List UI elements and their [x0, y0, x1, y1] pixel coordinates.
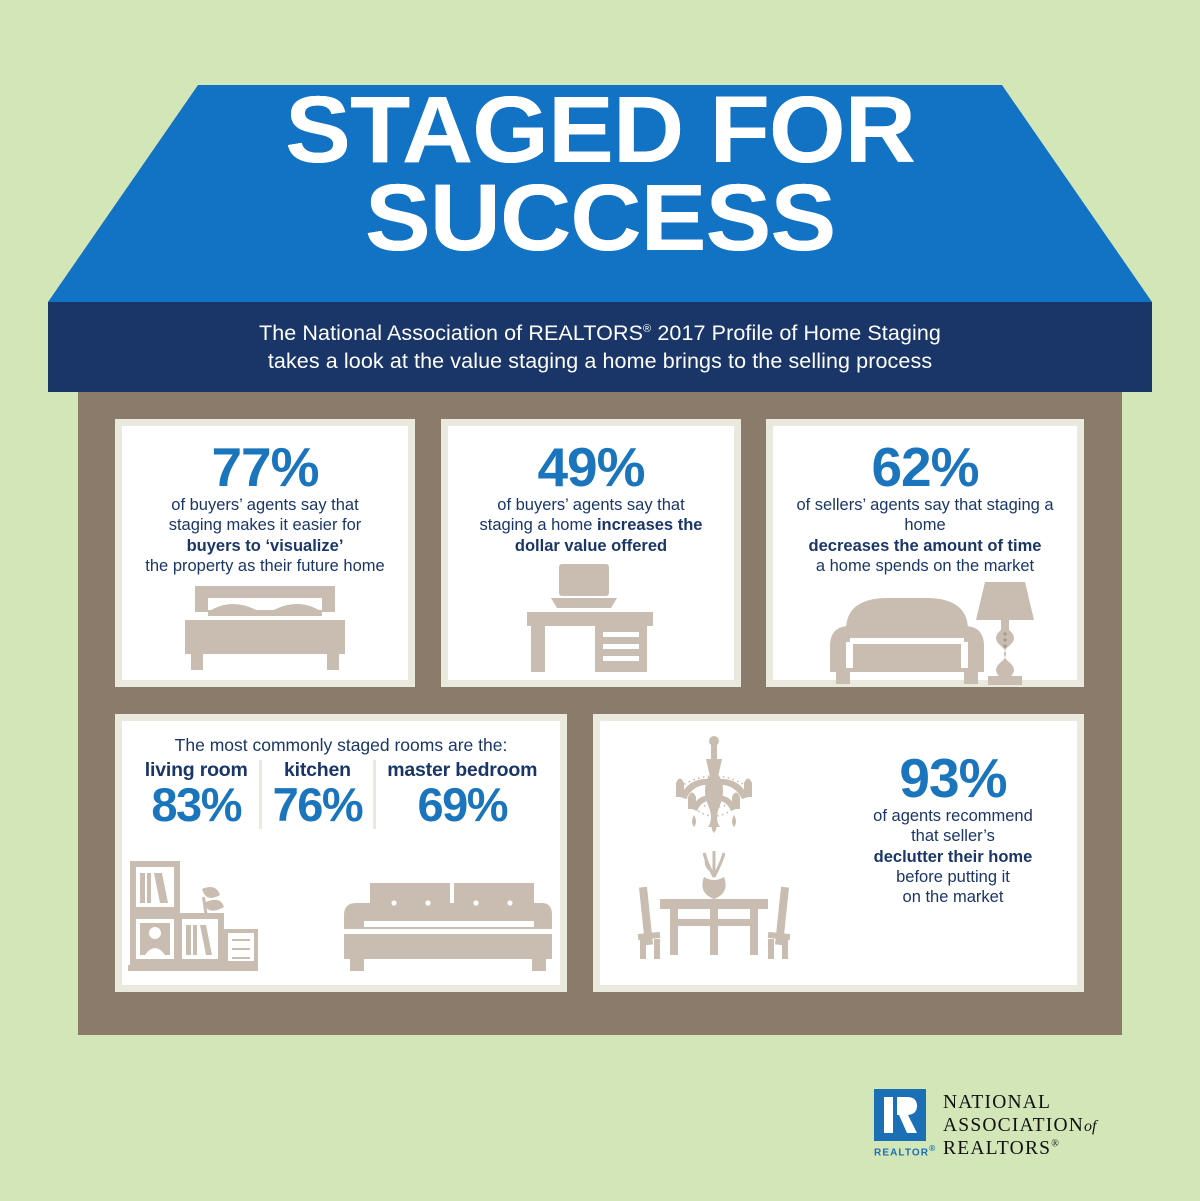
- nar-wordmark-line-2-row: ASSOCIATIONof: [943, 1114, 1097, 1137]
- time-percent: 62%: [773, 440, 1077, 495]
- realtor-wordmark-registered-icon: ®: [929, 1143, 936, 1153]
- stat-card-staged-rooms-inner: The most commonly staged rooms are the: …: [122, 721, 560, 985]
- declutter-text: 93% of agents recommend that seller’s de…: [829, 721, 1077, 985]
- rooms-row: living room 83% kitchen 76% master bedro…: [122, 756, 560, 829]
- declutter-line-4: before putting it: [896, 868, 1010, 886]
- subtitle-line-1-post: 2017 Profile of Home Staging: [651, 321, 941, 345]
- time-blurb: of sellers’ agents say that staging a ho…: [773, 495, 1077, 576]
- room-stat-kitchen: kitchen 76%: [259, 760, 374, 829]
- rooms-icons-row: [122, 829, 560, 985]
- bed-icon-wrap: [122, 576, 408, 680]
- room-percent-living-room: 83%: [145, 781, 248, 829]
- realtor-r-stem-icon: [884, 1097, 893, 1133]
- realtor-r-square-icon: [874, 1089, 926, 1141]
- room-stat-master-bedroom: master bedroom 69%: [373, 760, 548, 829]
- rooms-heading: The most commonly staged rooms are the:: [122, 721, 560, 756]
- stat-card-dollar-value-inner: 49% of buyers’ agents say that staging a…: [448, 426, 734, 680]
- time-text-block: 62% of sellers’ agents say that staging …: [773, 426, 1077, 576]
- stat-card-staged-rooms: The most commonly staged rooms are the: …: [115, 714, 567, 992]
- page-title: STAGED FOR SUCCESS: [0, 86, 1200, 263]
- sofa-icon: [342, 881, 554, 979]
- stat-card-declutter-inner: 93% of agents recommend that seller’s de…: [600, 721, 1077, 985]
- visualize-line-3-bold: buyers to ‘visualize’: [187, 537, 344, 555]
- realtor-wordmark: REALTOR®: [874, 1143, 932, 1158]
- value-line-1: of buyers’ agents say that: [497, 496, 684, 514]
- nar-wordmark-of: of: [1084, 1118, 1096, 1135]
- value-text-block: 49% of buyers’ agents say that staging a…: [448, 426, 734, 556]
- stat-card-visualize-inner: 77% of buyers’ agents say that staging m…: [122, 426, 408, 680]
- nar-wordmark-line-2: ASSOCIATION: [943, 1115, 1084, 1136]
- realtor-wordmark-text: REALTOR: [874, 1147, 929, 1158]
- nar-logo: REALTOR® NATIONAL ASSOCIATIONof REALTORS…: [874, 1089, 1097, 1160]
- value-line-2-pre: staging a home: [480, 516, 597, 534]
- realtor-r-mark-icon: REALTOR®: [874, 1089, 932, 1158]
- visualize-text-block: 77% of buyers’ agents say that staging m…: [122, 426, 408, 576]
- value-line-3-bold: dollar value offered: [515, 537, 667, 555]
- desk-icon: [521, 562, 661, 672]
- nar-wordmark: NATIONAL ASSOCIATIONof REALTORS®: [943, 1089, 1097, 1160]
- time-line-1: of sellers’ agents say that staging a ho…: [796, 496, 1053, 534]
- nar-wordmark-registered-icon: ®: [1051, 1139, 1060, 1150]
- room-stat-living-room: living room 83%: [134, 760, 259, 829]
- visualize-percent: 77%: [122, 440, 408, 495]
- value-blurb: of buyers’ agents say that staging a hom…: [448, 495, 734, 556]
- subtitle-line-1: The National Association of REALTORS® 20…: [259, 319, 941, 347]
- nar-wordmark-line-3-row: REALTORS®: [943, 1137, 1097, 1160]
- declutter-line-1: of agents recommend: [873, 807, 1033, 825]
- nar-wordmark-line-1: NATIONAL: [943, 1091, 1097, 1114]
- time-line-3: a home spends on the market: [816, 557, 1034, 575]
- visualize-line-1: of buyers’ agents say that: [171, 496, 358, 514]
- declutter-line-5: on the market: [903, 888, 1004, 906]
- room-percent-kitchen: 76%: [273, 781, 363, 829]
- nar-wordmark-line-3: REALTORS: [943, 1138, 1051, 1159]
- subtitle-band: The National Association of REALTORS® 20…: [48, 302, 1152, 392]
- dining-table-icon: [634, 847, 794, 965]
- realtor-r-bowl-icon: [897, 1097, 917, 1133]
- stat-card-time-on-market-inner: 62% of sellers’ agents say that staging …: [773, 426, 1077, 680]
- stat-card-time-on-market: 62% of sellers’ agents say that staging …: [766, 419, 1084, 687]
- title-line-1: STAGED FOR: [0, 86, 1200, 174]
- visualize-line-4: the property as their future home: [145, 557, 384, 575]
- value-percent: 49%: [448, 440, 734, 495]
- stat-card-dollar-value: 49% of buyers’ agents say that staging a…: [441, 419, 741, 687]
- armchair-lamp-icon-wrap: [773, 576, 1077, 696]
- visualize-line-2: staging makes it easier for: [169, 516, 362, 534]
- time-line-2-bold: decreases the amount of time: [809, 537, 1042, 555]
- subtitle-line-1-pre: The National Association of REALTORS: [259, 321, 643, 345]
- declutter-percent: 93%: [899, 751, 1006, 806]
- visualize-blurb: of buyers’ agents say that staging makes…: [122, 495, 408, 576]
- subtitle-line-2: takes a look at the value staging a home…: [268, 347, 932, 375]
- declutter-blurb: of agents recommend that seller’s declut…: [865, 806, 1041, 907]
- declutter-line-3-bold: declutter their home: [874, 848, 1033, 866]
- stat-card-declutter: 93% of agents recommend that seller’s de…: [593, 714, 1084, 992]
- title-line-2: SUCCESS: [0, 174, 1200, 262]
- stat-card-visualize: 77% of buyers’ agents say that staging m…: [115, 419, 415, 687]
- declutter-icons: [600, 721, 829, 985]
- room-percent-master-bedroom: 69%: [387, 781, 537, 829]
- value-line-2-bold: increases the: [597, 516, 702, 534]
- chandelier-icon: [644, 735, 784, 847]
- armchair-lamp-icon: [810, 576, 1040, 688]
- desk-icon-wrap: [448, 556, 734, 680]
- declutter-line-2: that seller’s: [911, 827, 995, 845]
- house-body: 77% of buyers’ agents say that staging m…: [78, 392, 1122, 1035]
- bed-icon: [175, 584, 355, 672]
- bookshelf-plant-icon: [128, 859, 260, 979]
